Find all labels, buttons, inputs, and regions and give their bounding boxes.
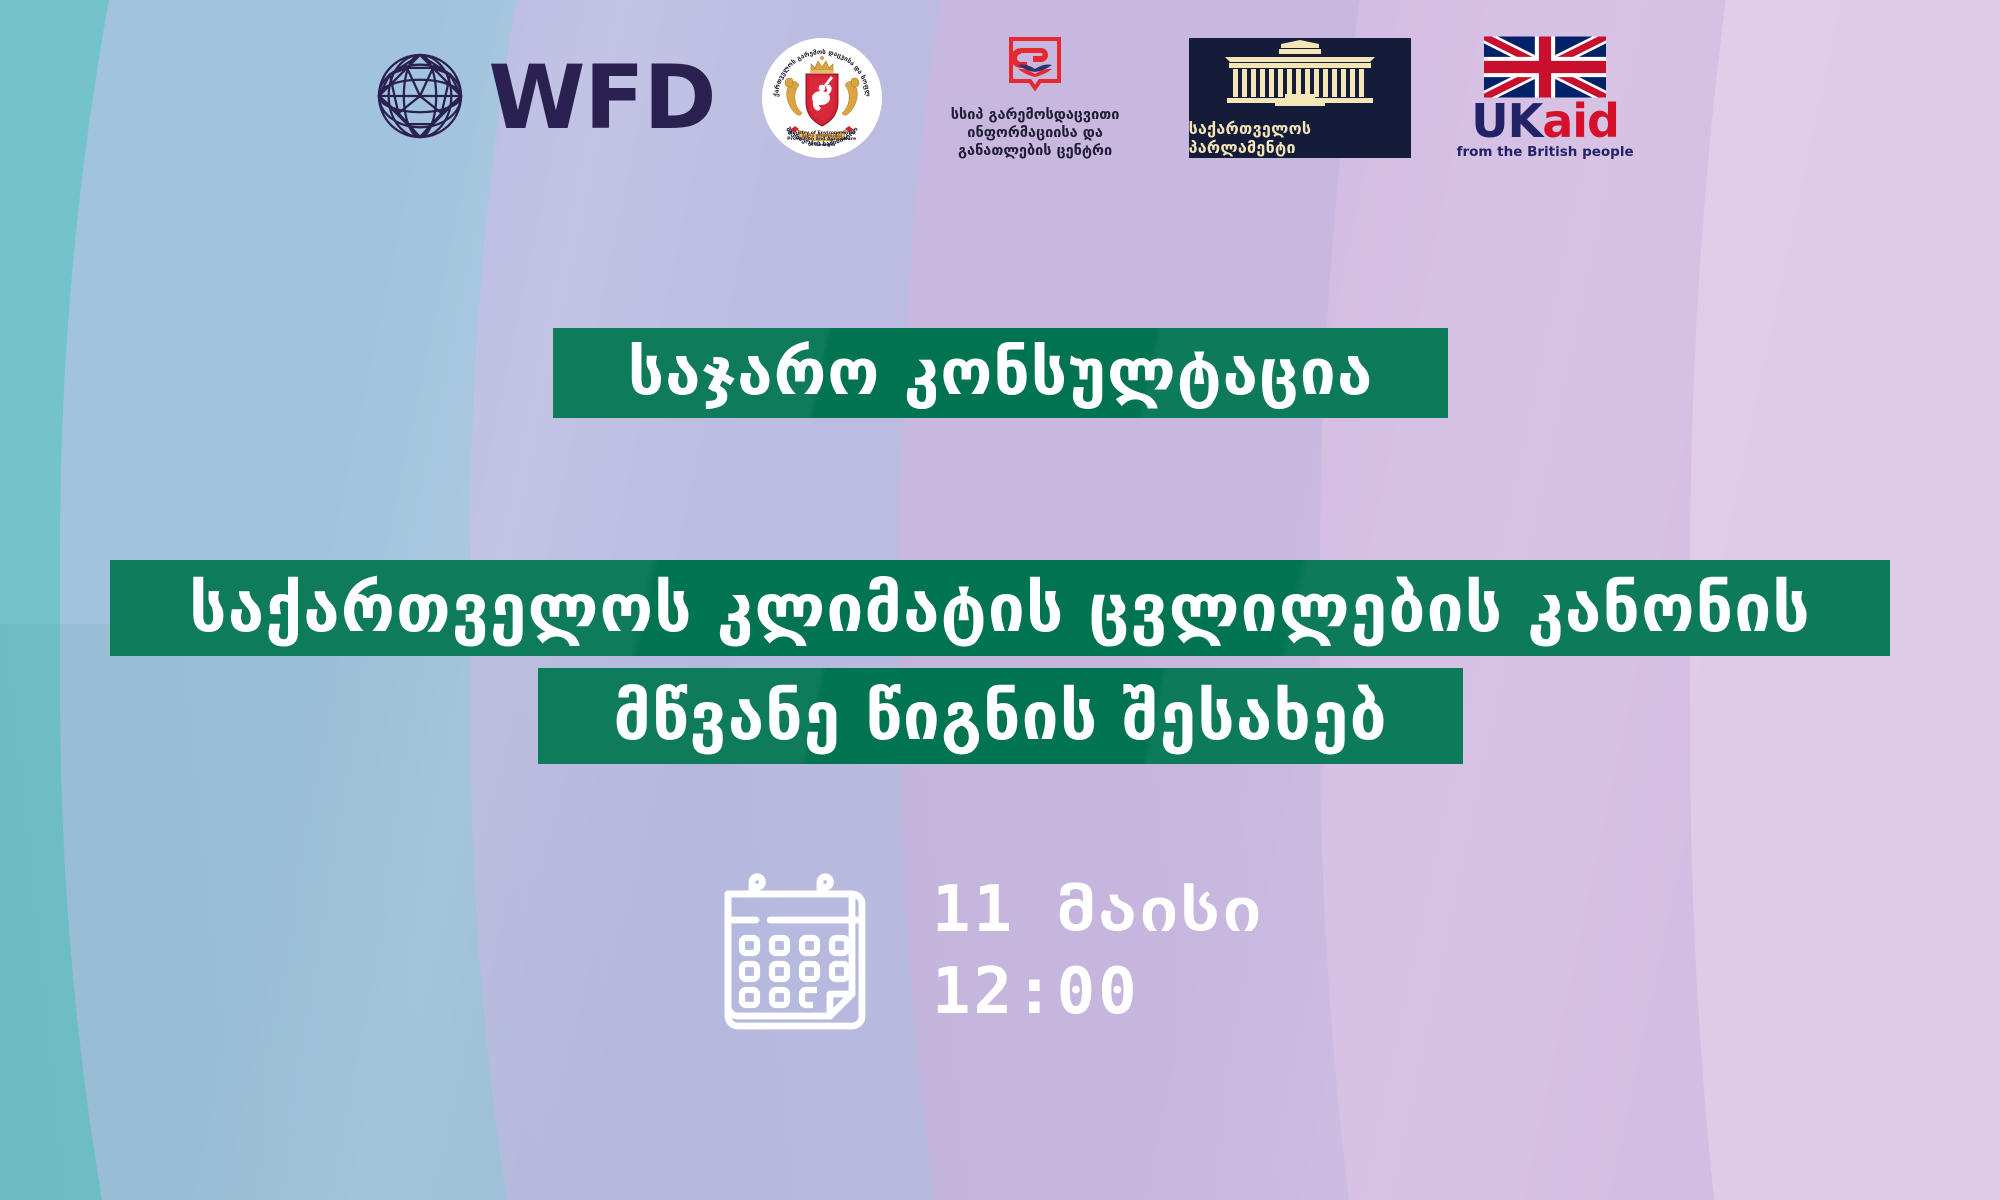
event-time: 12:00 bbox=[932, 952, 1264, 1034]
open-book-shield-icon bbox=[1008, 36, 1062, 100]
env-caption-line2: ინფორმაციისა და bbox=[967, 125, 1103, 141]
parliament-caption: საქართველოს პარლამენტი bbox=[1189, 119, 1411, 157]
ministry-caption-line2: Protection and Agriculture bbox=[787, 137, 856, 142]
env-centre-caption: სსიპ გარემოსდაცვითი ინფორმაციისა და განა… bbox=[951, 106, 1120, 161]
logo-wfd: WFD bbox=[366, 42, 715, 154]
env-caption-line1: სსიპ გარემოსდაცვითი bbox=[951, 107, 1120, 123]
ministry-caption: Ministry of Environmental Protection and… bbox=[770, 131, 874, 149]
globe-wireframe-icon bbox=[366, 42, 474, 154]
ministry-caption-line3: of Georgia bbox=[808, 143, 835, 148]
event-date: 11 მაისი bbox=[932, 870, 1264, 952]
banner-title-line-1: საქართველოს კლიმატის ცვლილების კანონის bbox=[110, 560, 1890, 656]
ukaid-word-uk: UK bbox=[1471, 94, 1542, 148]
logo-ukaid: UKaid from the British people bbox=[1457, 36, 1634, 161]
calendar-icon bbox=[716, 862, 884, 1042]
logo-environmental-info-centre: სსიპ გარემოსდაცვითი ინფორმაციისა და განა… bbox=[928, 36, 1143, 161]
parliament-building-icon bbox=[1215, 40, 1385, 116]
logo-parliament-of-georgia: საქართველოს პარლამენტი bbox=[1189, 38, 1411, 158]
env-caption-line3: განათლების ცენტრი bbox=[958, 143, 1112, 159]
event-datetime-text: 11 მაისი 12:00 bbox=[932, 870, 1264, 1034]
wfd-wordmark: WFD bbox=[488, 54, 715, 142]
logo-bar: WFD საქართველოს გარემოს დაცვისა და სოფლი… bbox=[0, 28, 2000, 168]
ukaid-tagline: from the British people bbox=[1457, 144, 1634, 160]
logo-ministry-of-environment: საქართველოს გარემოს დაცვისა და სოფლის მე… bbox=[762, 38, 882, 158]
event-datetime: 11 მაისი 12:00 bbox=[716, 862, 1264, 1042]
union-jack-flag-icon bbox=[1484, 36, 1606, 98]
ministry-caption-line1: Ministry of Environmental bbox=[788, 131, 855, 136]
banner-public-consultation: საჯარო კონსულტაცია bbox=[553, 328, 1448, 418]
banner-title-line-2: მწვანე წიგნის შესახებ bbox=[538, 668, 1463, 764]
event-poster: WFD საქართველოს გარემოს დაცვისა და სოფლი… bbox=[0, 0, 2000, 1200]
ukaid-word-aid: aid bbox=[1542, 94, 1619, 148]
